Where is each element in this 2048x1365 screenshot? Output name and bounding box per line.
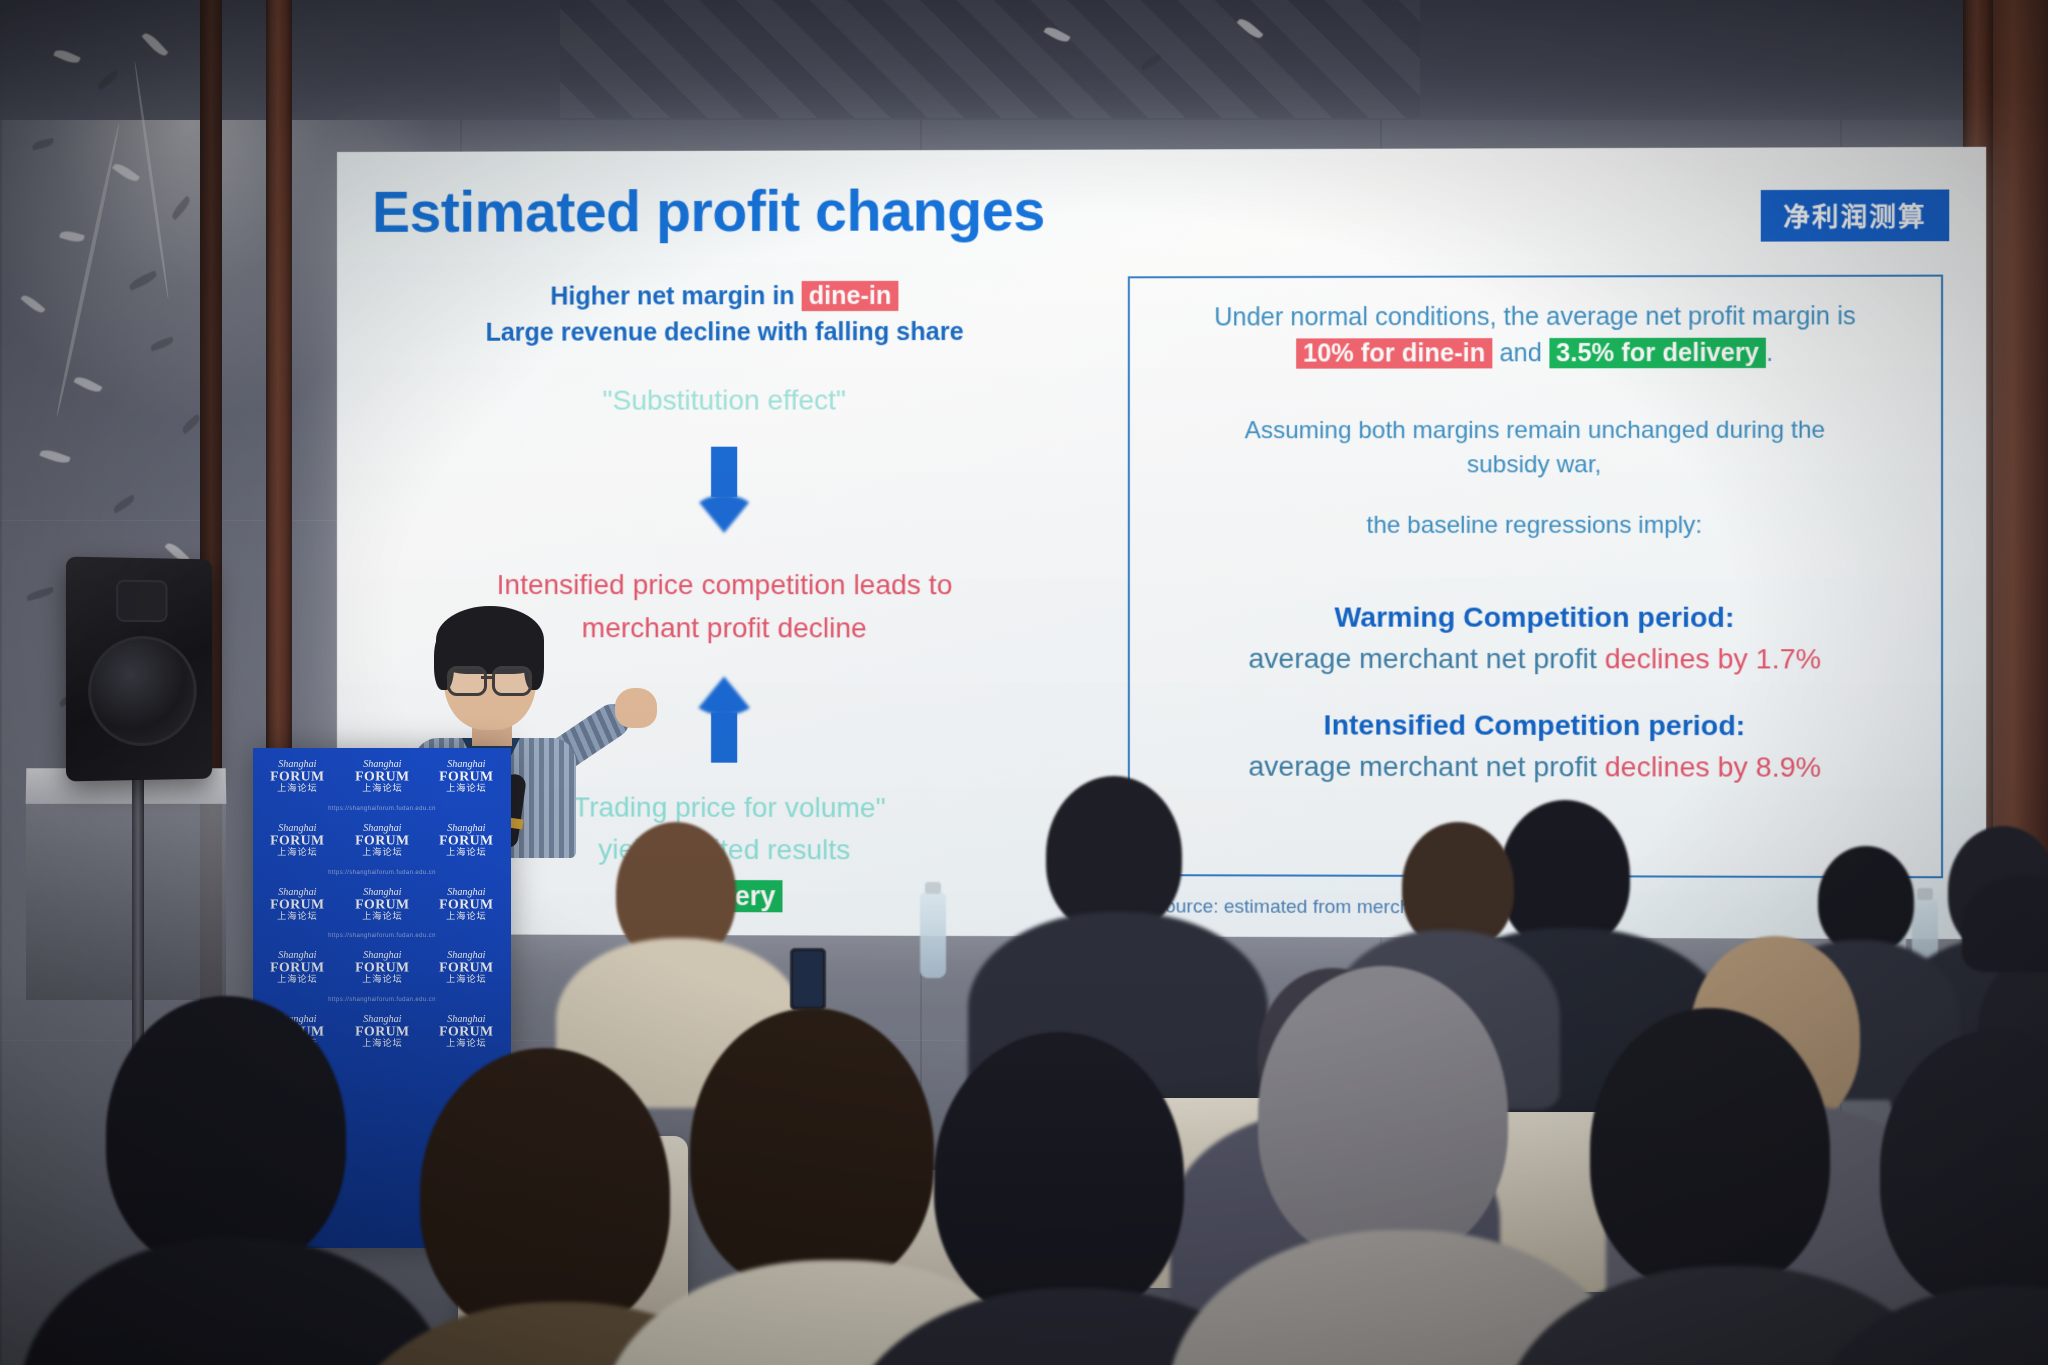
presenter-glasses-right-lens [492, 666, 532, 696]
panel-para-1-line-1: Under normal conditions, the average net… [1156, 299, 1914, 336]
panel-para-2-line-3: the baseline regressions imply: [1156, 509, 1914, 544]
panel-para-1-line-2: 10% for dine-in and 3.5% for delivery. [1156, 335, 1914, 372]
panel-para-1: Under normal conditions, the average net… [1156, 299, 1914, 372]
dine-in-highlight: dine-in [802, 281, 899, 311]
pa-tweeter [116, 580, 167, 623]
water-bottle [920, 892, 946, 978]
warming-period-heading: Warming Competition period: [1156, 598, 1914, 639]
left-lead-line-1-prefix: Higher net margin in [550, 282, 801, 311]
delivery-margin-highlight: 3.5% for delivery [1549, 337, 1766, 368]
warming-period-decline: declines by 1.7% [1605, 643, 1821, 675]
left-lead-line-2: Large revenue decline with falling share [373, 314, 1077, 351]
ceiling-pattern [560, 0, 1420, 118]
warming-period-result: average merchant net profit declines by … [1156, 638, 1914, 680]
dine-in-margin-highlight: 10% for dine-in [1296, 338, 1492, 369]
warming-period-result-prefix: average merchant net profit [1248, 643, 1604, 675]
slide-badge: 净利润测算 [1761, 189, 1949, 241]
presenter-glasses-left-lens [447, 666, 487, 696]
panel-para-2-line-2: subsidy war, [1156, 448, 1914, 483]
panel-para-1-conjunction: and [1492, 339, 1549, 367]
panel-para-2: Assuming both margins remain unchanged d… [1156, 413, 1914, 482]
left-lead-line-1: Higher net margin in dine-in [373, 278, 1077, 315]
presenter-glasses-bridge [481, 676, 492, 679]
slide-title: Estimated profit changes [372, 178, 1045, 246]
audience-phone [790, 948, 826, 1010]
substitution-effect-quote: "Substitution effect" [373, 384, 1077, 417]
conference-room-photo: Estimated profit changes 净利润测算 Higher ne… [0, 0, 2048, 1365]
down-arrow-wrap [373, 446, 1077, 533]
panel-para-2-line-1: Assuming both margins remain unchanged d… [1156, 413, 1914, 448]
audience [0, 700, 2048, 1365]
panel-para-1-period: . [1766, 338, 1773, 366]
down-arrow-icon [693, 447, 755, 533]
